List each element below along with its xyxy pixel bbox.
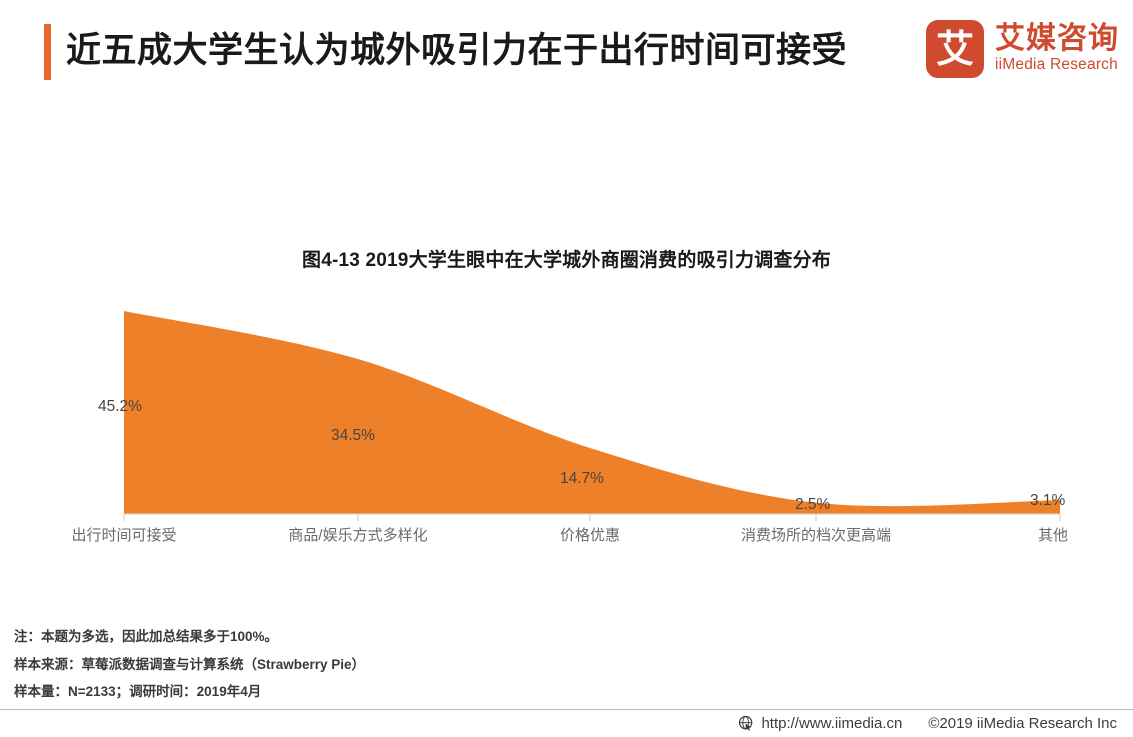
area-chart-svg [0, 290, 1133, 530]
data-label-3: 2.5% [795, 496, 830, 514]
website-link[interactable]: http://www.iimedia.cn [738, 715, 902, 732]
logo-mark-icon: 艾 [926, 20, 984, 78]
logo-name-en: iiMedia Research [995, 56, 1119, 75]
footer-bar: http://www.iimedia.cn ©2019 iiMedia Rese… [0, 710, 1133, 737]
category-label-4: 其他 [1038, 524, 1068, 545]
website-url: http://www.iimedia.cn [761, 715, 902, 732]
brand-logo: 艾 艾媒咨询 iiMedia Research [926, 18, 1119, 80]
category-label-3: 消费场所的档次更高端 [741, 524, 891, 545]
logo-text: 艾媒咨询 iiMedia Research [995, 23, 1119, 75]
category-label-0: 出行时间可接受 [71, 524, 176, 545]
footnote-1: 样本来源：草莓派数据调查与计算系统（Strawberry Pie） [14, 658, 714, 672]
footnotes: 注：本题为多选，因此加总结果多于100%。 样本来源：草莓派数据调查与计算系统（… [14, 630, 714, 713]
category-label-1: 商品/娱乐方式多样化 [288, 524, 427, 545]
page-title: 近五成大学生认为城外吸引力在于出行时间可接受 [66, 22, 847, 73]
footnote-2: 样本量：N=2133；调研时间：2019年4月 [14, 685, 714, 699]
data-label-2: 14.7% [560, 470, 604, 488]
slide-page: 近五成大学生认为城外吸引力在于出行时间可接受 艾 艾媒咨询 iiMedia Re… [0, 0, 1133, 737]
page-header: 近五成大学生认为城外吸引力在于出行时间可接受 艾 艾媒咨询 iiMedia Re… [0, 0, 1133, 100]
chart-title: 图4-13 2019大学生眼中在大学城外商圈消费的吸引力调查分布 [0, 245, 1133, 272]
category-label-2: 价格优惠 [560, 524, 620, 545]
logo-name-cn: 艾媒咨询 [995, 23, 1119, 55]
chart-area: 45.2% 34.5% 14.7% 2.5% 3.1% [0, 290, 1133, 530]
copyright-text: ©2019 iiMedia Research Inc [928, 715, 1117, 732]
data-label-4: 3.1% [1030, 492, 1065, 510]
data-label-0: 45.2% [98, 398, 142, 416]
x-axis-ticks [124, 514, 1060, 521]
data-label-1: 34.5% [331, 427, 375, 445]
title-accent-bar [44, 24, 51, 80]
footnote-0: 注：本题为多选，因此加总结果多于100%。 [14, 630, 714, 644]
globe-cursor-icon [738, 715, 755, 732]
